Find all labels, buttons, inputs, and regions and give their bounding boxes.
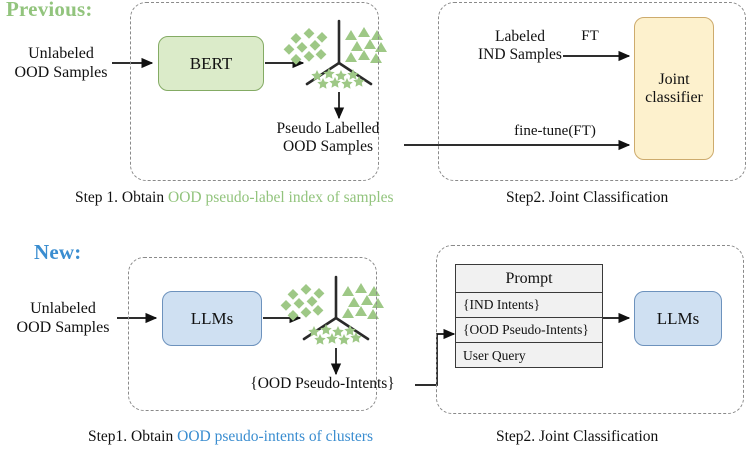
previous-caption-step2: Step2. Joint Classification: [506, 189, 668, 207]
new-caption-step2: Step2. Joint Classification: [496, 428, 658, 446]
previous-caption-step1: Step 1. Obtain OOD pseudo-label index of…: [75, 189, 394, 207]
new-caption-step1-prefix: Step1. Obtain: [88, 428, 177, 445]
previous-input-label: Unlabeled OOD Samples: [2, 45, 120, 83]
finetune-arrow-label: fine-tune(FT): [490, 123, 620, 141]
new-input-label-line2: OOD Samples: [2, 319, 124, 338]
pseudo-labelled-line1: Pseudo Labelled: [248, 120, 408, 138]
ood-pseudo-intents-label: {OOD Pseudo-Intents}: [230, 375, 415, 393]
new-heading: New:: [34, 240, 81, 265]
previous-caption-step1-prefix: Step 1. Obtain: [75, 189, 168, 206]
labeled-ind-line1: Labeled: [460, 28, 580, 46]
prompt-table: Prompt {IND Intents} {OOD Pseudo-Intents…: [455, 264, 603, 368]
ft-arrow-label: FT: [570, 28, 610, 46]
pseudo-labelled-output-label: Pseudo Labelled OOD Samples: [248, 120, 408, 157]
prompt-table-header: Prompt: [456, 265, 602, 293]
prompt-row-ood-pseudo-intents: {OOD Pseudo-Intents}: [456, 318, 602, 343]
joint-classifier-box[interactable]: Joint classifier: [634, 17, 714, 160]
new-caption-step1: Step1. Obtain OOD pseudo-intents of clus…: [88, 428, 373, 446]
prompt-row-user-query: User Query: [456, 343, 602, 368]
new-input-label-line1: Unlabeled: [2, 300, 124, 319]
new-caption-step1-accent: OOD pseudo-intents of clusters: [177, 428, 373, 445]
joint-classifier-line2: classifier: [645, 89, 703, 107]
llms-box-step2[interactable]: LLMs: [634, 291, 722, 346]
previous-caption-step1-accent: OOD pseudo-label index of samples: [168, 189, 394, 206]
new-input-label: Unlabeled OOD Samples: [2, 300, 124, 338]
pseudo-labelled-line2: OOD Samples: [248, 138, 408, 156]
llms-box-step1[interactable]: LLMs: [162, 291, 262, 346]
labeled-ind-line2: IND Samples: [460, 46, 580, 64]
prompt-row-ind-intents: {IND Intents}: [456, 293, 602, 318]
bert-box[interactable]: BERT: [158, 36, 264, 91]
joint-classifier-line1: Joint: [658, 71, 689, 89]
labeled-ind-samples-label: Labeled IND Samples: [460, 28, 580, 65]
previous-heading: Previous:: [6, 0, 93, 22]
previous-input-label-line1: Unlabeled: [2, 45, 120, 64]
previous-input-label-line2: OOD Samples: [2, 64, 120, 83]
